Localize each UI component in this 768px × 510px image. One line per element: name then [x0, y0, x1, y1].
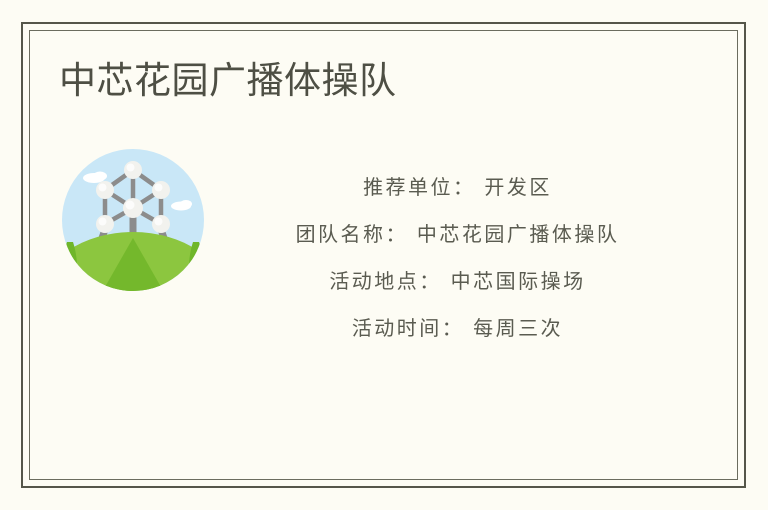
detail-label-recommending-unit: 推荐单位： [363, 175, 476, 199]
team-details-list: 推荐单位： 开发区 团队名称： 中芯花园广播体操队 活动地点： 中芯国际操场 活… [207, 146, 724, 352]
detail-line-activity-time: 活动时间： 每周三次 [207, 305, 708, 352]
detail-label-activity-time: 活动时间： [352, 316, 465, 340]
detail-value-recommending-unit: 开发区 [484, 175, 552, 199]
detail-label-team-name: 团队名称： [296, 222, 409, 246]
detail-label-activity-location: 活动地点： [329, 269, 442, 293]
content-row: 推荐单位： 开发区 团队名称： 中芯花园广播体操队 活动地点： 中芯国际操场 活… [59, 146, 724, 352]
detail-value-activity-location: 中芯国际操场 [451, 269, 586, 293]
page-title: 中芯花园广播体操队 [59, 60, 397, 103]
info-card: 中芯花园广播体操队 [21, 22, 746, 488]
detail-line-recommending-unit: 推荐单位： 开发区 [207, 164, 708, 211]
detail-line-activity-location: 活动地点： 中芯国际操场 [207, 258, 708, 305]
detail-value-activity-time: 每周三次 [473, 316, 563, 340]
detail-value-team-name: 中芯花园广播体操队 [417, 222, 620, 246]
atomium-monument-icon [59, 146, 207, 294]
detail-line-team-name: 团队名称： 中芯花园广播体操队 [207, 211, 708, 258]
